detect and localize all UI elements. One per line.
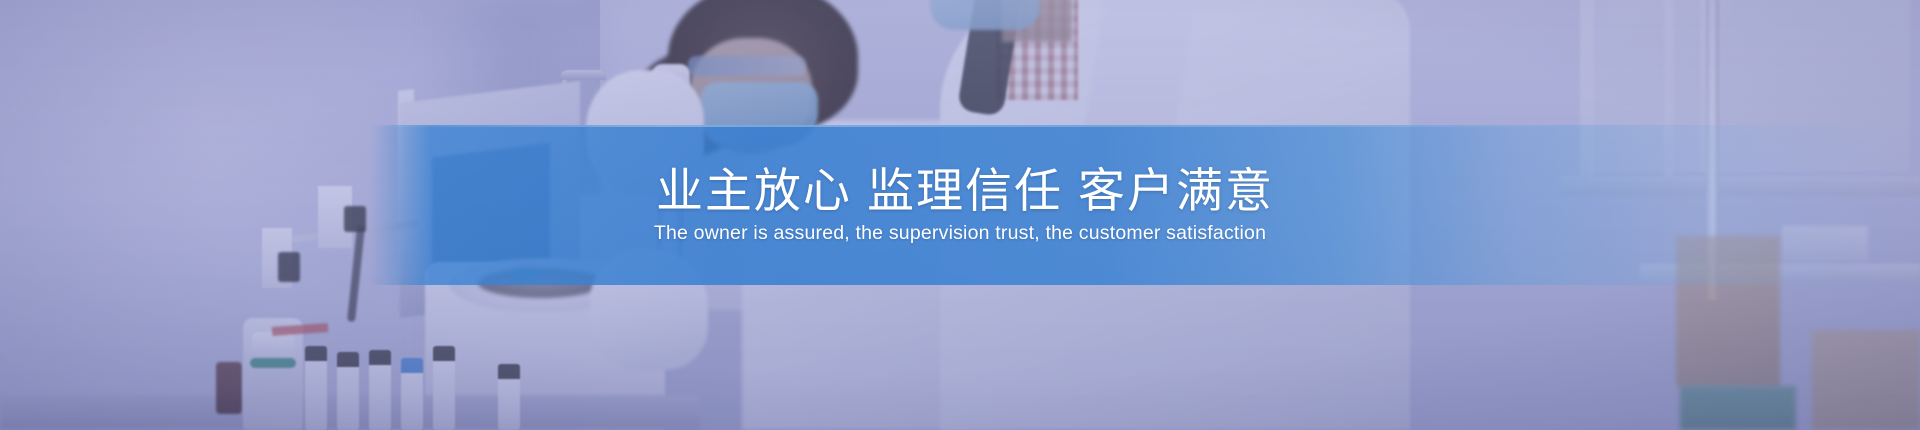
hero-banner: 业主放心 监理信任 客户满意 The owner is assured, the… <box>0 0 1920 430</box>
banner-headline: 业主放心 监理信任 客户满意 <box>646 165 1274 218</box>
banner-subline: The owner is assured, the supervision tr… <box>654 222 1266 245</box>
banner-text-block: 业主放心 监理信任 客户满意 The owner is assured, the… <box>0 125 1920 285</box>
